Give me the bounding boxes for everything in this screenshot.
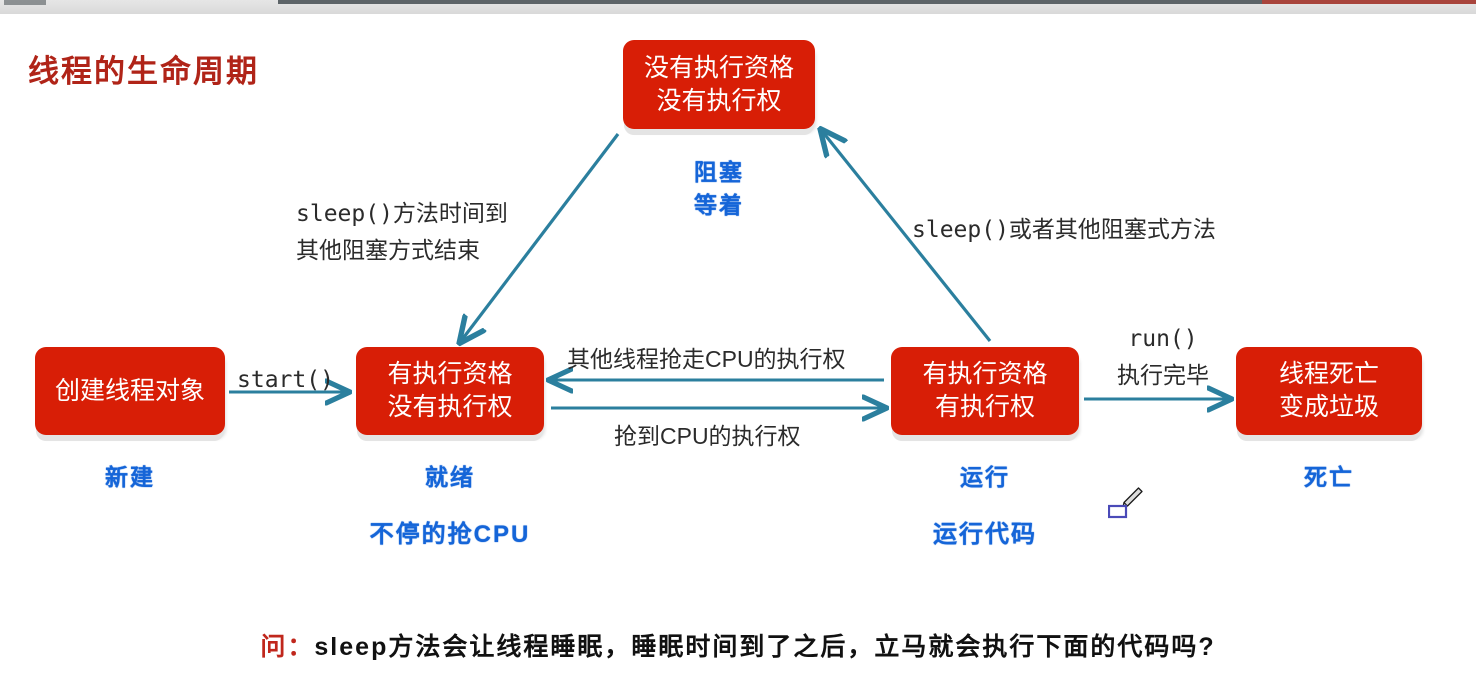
state-label-blocked-sub: 等着: [623, 189, 815, 222]
node-line-2: 没有执行权: [656, 85, 781, 118]
edge-label-run-line1: run(): [1108, 321, 1218, 358]
state-node-blocked: 没有执行资格 没有执行权: [623, 40, 815, 129]
node-line-1: 创建线程对象: [55, 375, 205, 408]
node-line-2: 变成垃圾: [1279, 391, 1379, 424]
node-line-2: 有执行权: [935, 391, 1035, 424]
question-body: sleep方法会让线程睡眠，睡眠时间到了之后，立马就会执行下面的代码吗?: [314, 633, 1215, 661]
player-corner-chip: [4, 0, 46, 5]
state-label-blocked-main: 阻塞: [623, 156, 815, 189]
state-label-ready-sub: 不停的抢CPU: [336, 514, 564, 549]
progress-played[interactable]: [1262, 0, 1476, 4]
node-line-1: 有执行资格: [387, 358, 512, 391]
edge-label-run-line2: 执行完毕: [1108, 358, 1218, 395]
state-node-dead: 线程死亡 变成垃圾: [1236, 347, 1422, 435]
node-line-1: 有执行资格: [922, 358, 1047, 391]
question-prefix: 问：: [260, 633, 314, 661]
edge-label-sleep-wake: sleep()方法时间到 其他阻塞方式结束: [296, 196, 508, 271]
video-progress-bar[interactable]: [0, 0, 1476, 14]
state-label-new: 新建: [35, 458, 225, 492]
pen-cursor: [1108, 486, 1144, 524]
edge-label-sleep-wake-line2: 其他阻塞方式结束: [296, 233, 508, 270]
edge-label-grab-cpu: 抢到CPU的执行权: [614, 418, 801, 455]
node-line-1: 线程死亡: [1279, 358, 1379, 391]
edge-label-sleep-block: sleep()或者其他阻塞式方法: [912, 212, 1216, 249]
slide-canvas: 线程的生命周期 没有执行资格 没有执行权 创建线程对象 有执行资格 没有执行权 …: [0, 14, 1476, 689]
state-label-running-sub: 运行代码: [871, 514, 1099, 549]
edge-label-steal-cpu: 其他线程抢走CPU的执行权: [567, 341, 846, 378]
edge-label-run-finished: run() 执行完毕: [1108, 321, 1218, 396]
state-label-running: 运行: [891, 458, 1079, 492]
node-line-2: 没有执行权: [387, 391, 512, 424]
state-label-blocked: 阻塞 等着: [623, 156, 815, 223]
question-text: 问：sleep方法会让线程睡眠，睡眠时间到了之后，立马就会执行下面的代码吗?: [0, 627, 1476, 663]
state-node-running: 有执行资格 有执行权: [891, 347, 1079, 435]
state-label-dead: 死亡: [1236, 458, 1422, 492]
node-line-1: 没有执行资格: [644, 52, 794, 85]
edge-label-start: start(): [237, 362, 334, 399]
state-node-new: 创建线程对象: [35, 347, 225, 435]
edge-label-sleep-wake-line1: sleep()方法时间到: [296, 196, 508, 233]
state-label-ready: 就绪: [356, 458, 544, 492]
state-node-ready: 有执行资格 没有执行权: [356, 347, 544, 435]
